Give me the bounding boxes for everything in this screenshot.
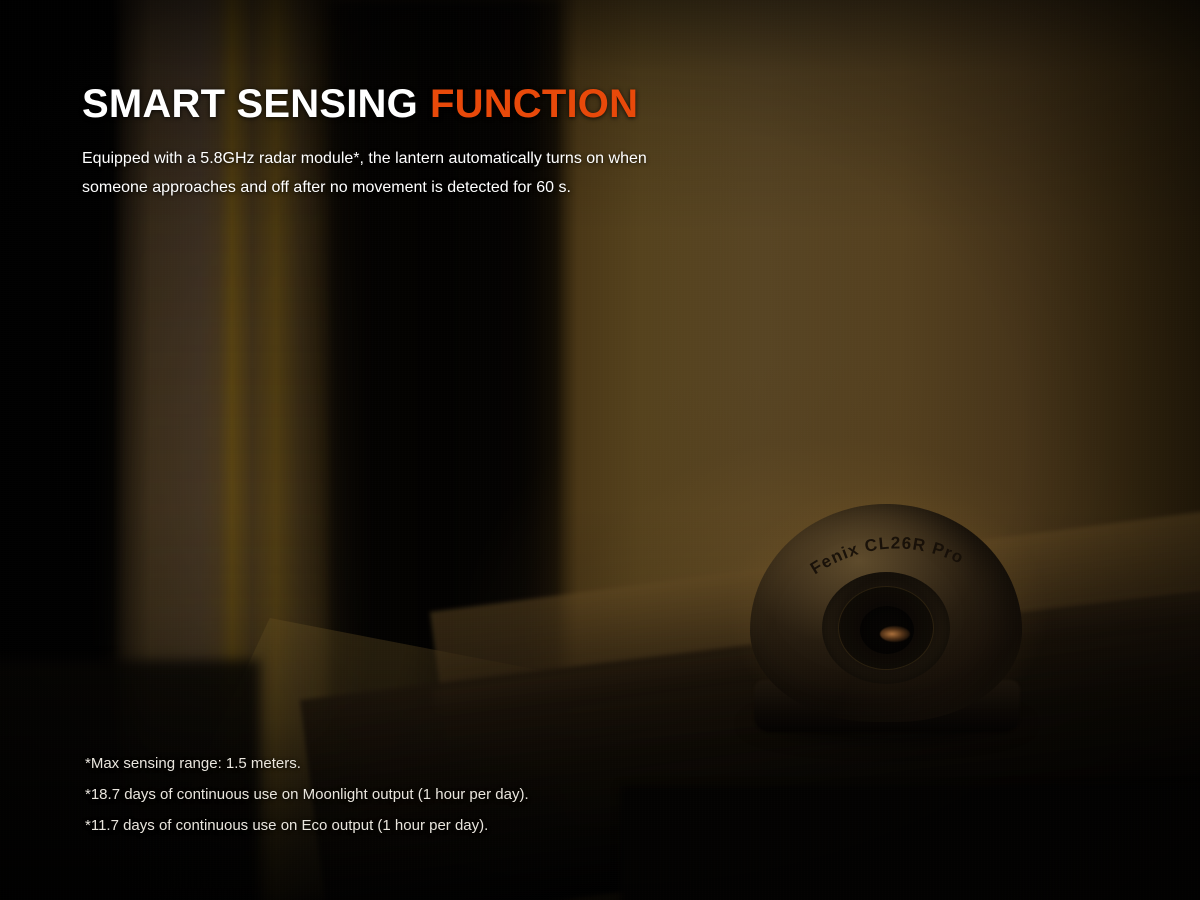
footnote-item: *18.7 days of continuous use on Moonligh… <box>85 779 529 810</box>
headline-primary: SMART SENSING <box>82 82 418 126</box>
footnote-list: *Max sensing range: 1.5 meters. *18.7 da… <box>85 748 529 841</box>
footnote-item: *Max sensing range: 1.5 meters. <box>85 748 529 779</box>
body-paragraph: Equipped with a 5.8GHz radar module*, th… <box>82 144 667 202</box>
headline-accent: FUNCTION <box>430 82 638 126</box>
page-title: SMART SENSINGFUNCTION <box>82 84 682 124</box>
footnote-item: *11.7 days of continuous use on Eco outp… <box>85 810 529 841</box>
lantern-lens-highlight <box>880 626 910 642</box>
body-copy: Equipped with a 5.8GHz radar module*, th… <box>82 144 682 202</box>
fenix-lantern: Fenix CL26R Pro <box>744 498 1032 728</box>
copy-block: SMART SENSINGFUNCTION Equipped with a 5.… <box>82 84 682 202</box>
marketing-slide: Fenix CL26R Pro SMART SENSINGFUNCTION Eq… <box>0 0 1200 900</box>
